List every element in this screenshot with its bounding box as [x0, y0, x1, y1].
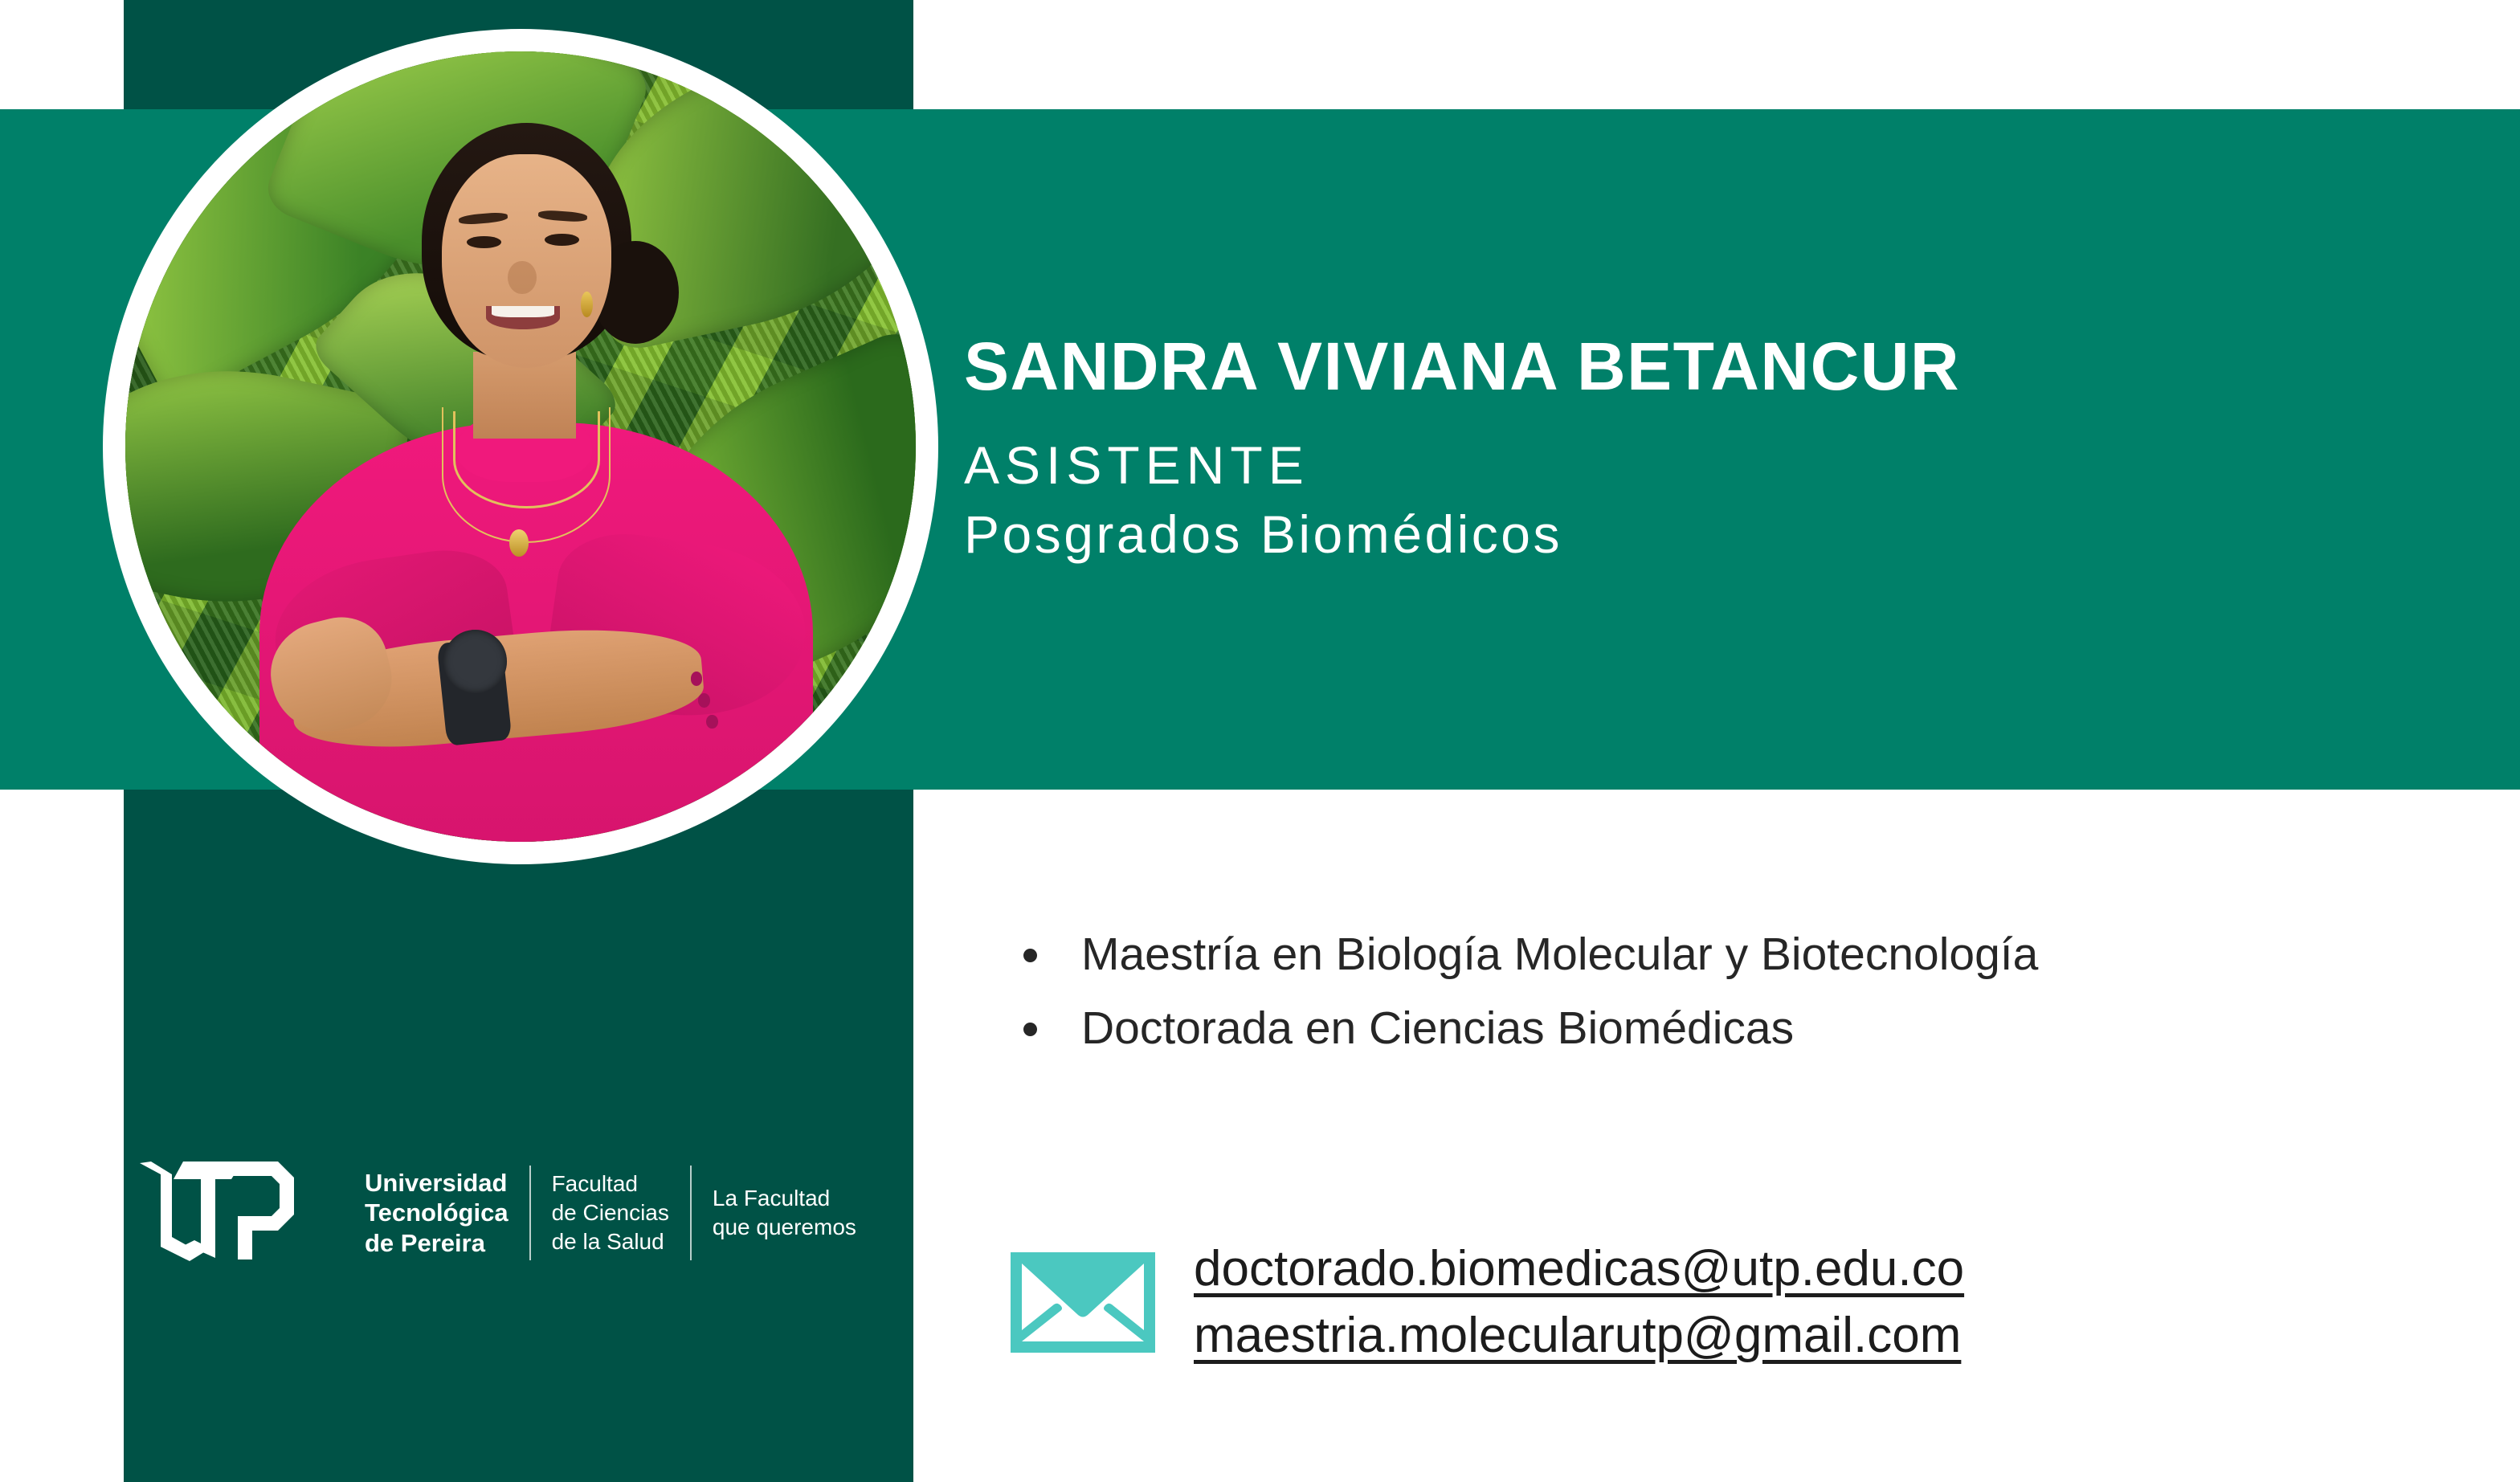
eye — [467, 236, 501, 248]
logo-divider — [529, 1166, 531, 1260]
portrait-photo — [125, 51, 916, 842]
sleeve-button — [706, 715, 718, 729]
utp-name-line-2: Tecnológica — [365, 1198, 508, 1227]
contact-card: SANDRA VIVIANA BETANCUR ASISTENTE Posgra… — [0, 0, 2520, 1482]
email-link-primary[interactable]: doctorado.biomedicas@utp.edu.co — [1194, 1241, 1964, 1296]
face — [442, 154, 612, 368]
person-department: Posgrados Biomédicos — [964, 508, 1562, 561]
utp-name-line-1: Universidad — [365, 1168, 508, 1198]
faculty-line-3: de la Salud — [552, 1227, 669, 1256]
earring — [581, 292, 593, 316]
envelope-icon — [1011, 1252, 1155, 1353]
avatar — [103, 29, 938, 864]
faculty-slogan: La Facultad que queremos — [713, 1184, 856, 1242]
slogan-line-1: La Facultad — [713, 1184, 856, 1213]
eye — [545, 234, 579, 246]
nose — [508, 261, 536, 294]
utp-logo-mark — [137, 1157, 345, 1269]
list-item: Maestría en Biología Molecular y Biotecn… — [1004, 928, 2038, 982]
utp-name-line-3: de Pereira — [365, 1228, 508, 1258]
contact-block: doctorado.biomedicas@utp.edu.co maestria… — [1011, 1241, 1964, 1364]
faculty-name: Facultad de Ciencias de la Salud — [552, 1170, 669, 1255]
utp-university-name: Universidad Tecnológica de Pereira — [365, 1168, 508, 1258]
necklace-pendant — [509, 529, 529, 556]
faculty-line-1: Facultad — [552, 1170, 669, 1198]
teeth — [492, 306, 554, 317]
faculty-line-2: de Ciencias — [552, 1198, 669, 1227]
person-name: SANDRA VIVIANA BETANCUR — [964, 333, 1960, 400]
person-figure — [125, 51, 916, 842]
slogan-line-2: que queremos — [713, 1213, 856, 1242]
person-role: ASISTENTE — [964, 439, 1309, 492]
credentials-list: Maestría en Biología Molecular y Biotecn… — [1004, 928, 2038, 1076]
email-list: doctorado.biomedicas@utp.edu.co maestria… — [1194, 1241, 1964, 1364]
logo-divider — [690, 1166, 692, 1260]
list-item: Doctorada en Ciencias Biomédicas — [1004, 1002, 2038, 1055]
email-link-secondary[interactable]: maestria.molecularutp@gmail.com — [1194, 1308, 1964, 1363]
necklace — [442, 407, 611, 543]
utp-logo: Universidad Tecnológica de Pereira Facul… — [137, 1157, 856, 1269]
sleeve-button — [698, 693, 710, 708]
